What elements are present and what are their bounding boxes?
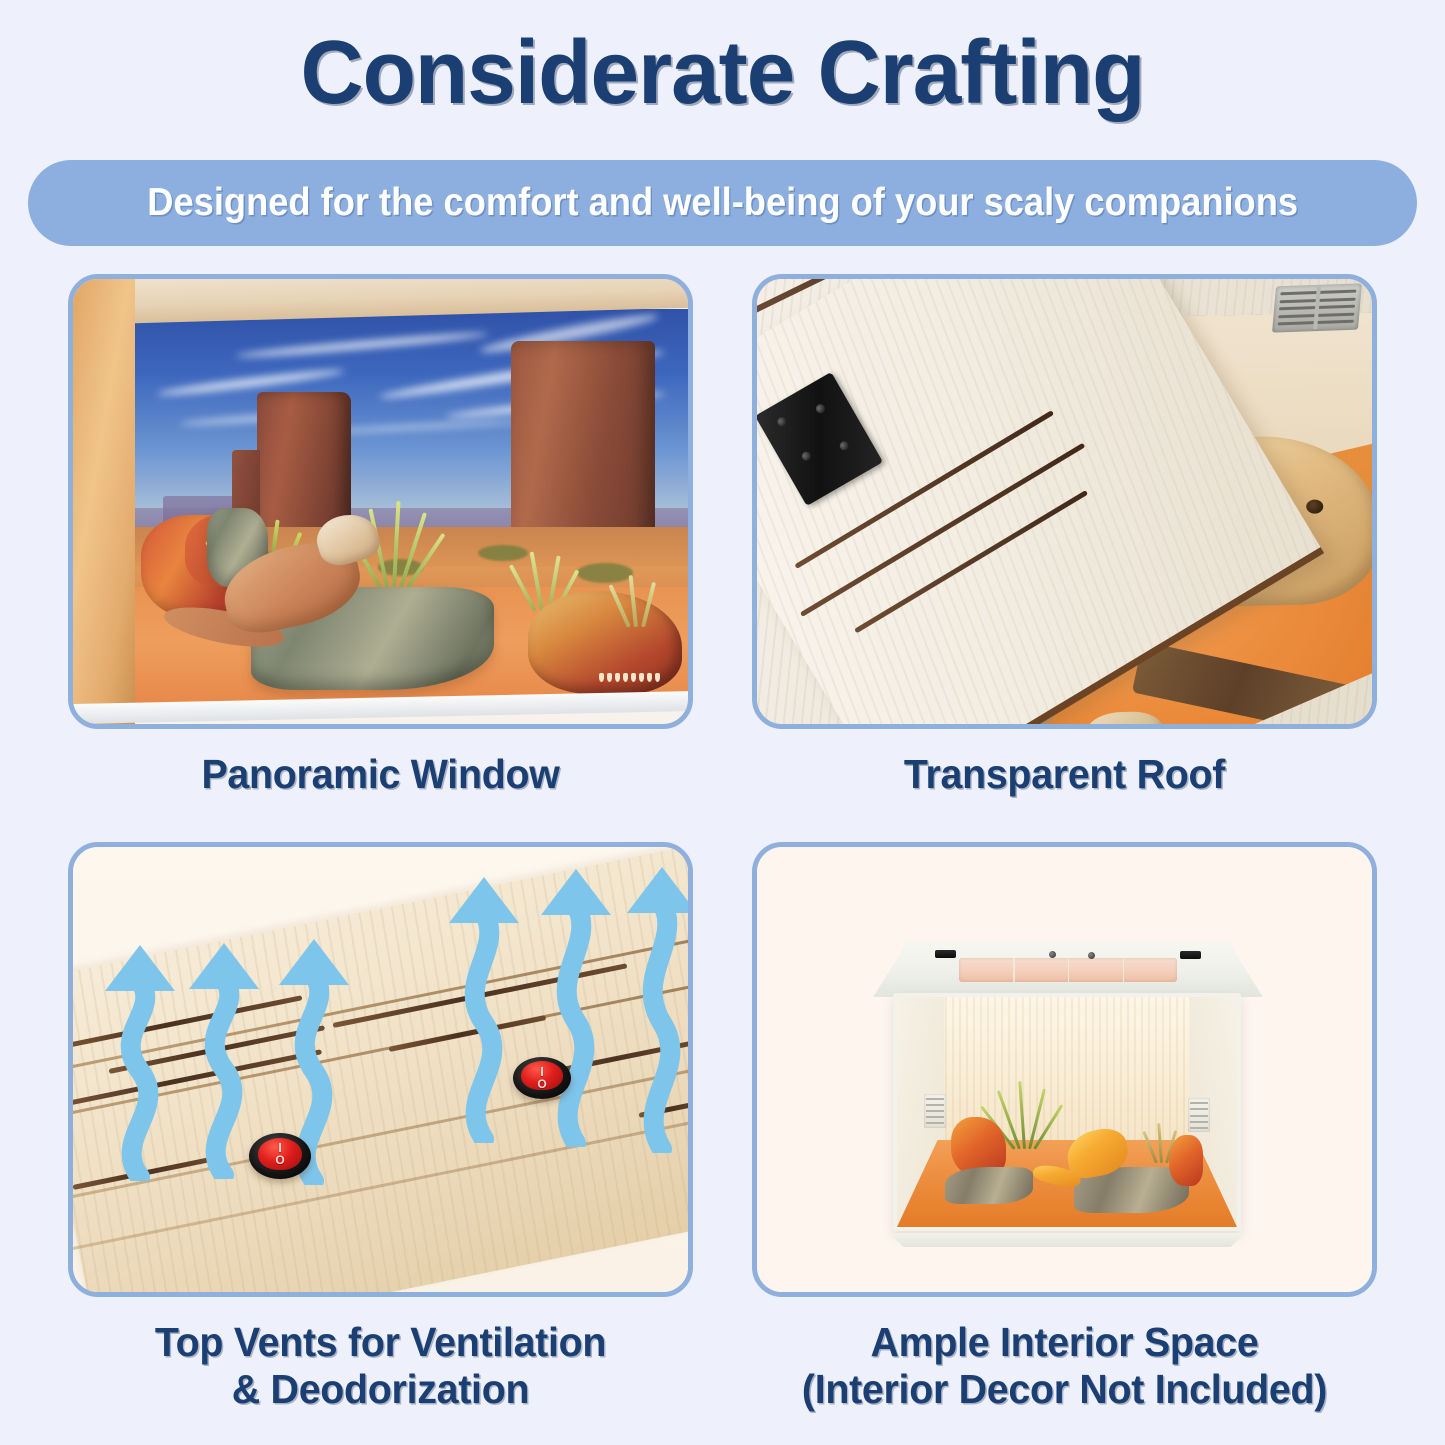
photo-transparent-roof [752, 274, 1377, 729]
photo-ample-interior-space [752, 842, 1377, 1297]
wood-frame-left [73, 279, 135, 724]
photo-panoramic-window [68, 274, 693, 729]
caption-line-1: Top Vents for Ventilation [155, 1319, 606, 1365]
vent-slot [796, 274, 1041, 279]
top-frame [873, 941, 1263, 997]
lid-clip[interactable] [935, 950, 956, 958]
side-vent-grille [924, 1094, 946, 1128]
shrub [478, 545, 528, 561]
airflow-arrow-icon [621, 863, 693, 1153]
mesa-butte-right [511, 341, 655, 555]
side-vent-grille [1188, 1098, 1210, 1132]
lid-clip[interactable] [1180, 951, 1201, 959]
base-rail [889, 1233, 1245, 1247]
orange-rock-decor [1169, 1135, 1203, 1186]
caption-line-2: (Interior Decor Not Included) [765, 1366, 1365, 1413]
caption-panoramic-window: Panoramic Window [81, 751, 681, 798]
screw-icon [1049, 951, 1056, 958]
feature-cell-ample-interior-space: Ample Interior Space (Interior Decor Not… [752, 842, 1377, 1413]
infographic-page: Considerate Crafting Designed for the co… [0, 0, 1445, 1445]
photo-top-vents: O O [68, 842, 693, 1297]
feature-cell-top-vents: O O Top Vents for Ventilation & Deodoriz… [68, 842, 693, 1413]
desert-diorama-scene [135, 309, 688, 706]
skull-teeth [599, 673, 660, 682]
caption-line-1: Panoramic Window [201, 751, 559, 797]
airflow-arrow-icon [535, 865, 617, 1147]
cloud-streak-icon [235, 330, 489, 360]
airflow-arrow-icon [99, 941, 181, 1181]
caption-transparent-roof: Transparent Roof [765, 751, 1365, 798]
airflow-arrow-icon [443, 873, 525, 1143]
subtitle-text: Designed for the comfort and well-being … [147, 181, 1298, 225]
switch-off-label: O [249, 1153, 311, 1167]
power-switch-front[interactable]: O [249, 1133, 311, 1179]
terrarium-product [847, 941, 1281, 1241]
enclosure-body [893, 993, 1241, 1231]
caption-line-1: Ample Interior Space [871, 1319, 1259, 1365]
side-vent-grille [1272, 283, 1362, 332]
caption-line-2: & Deodorization [81, 1366, 681, 1413]
feature-cell-transparent-roof: Transparent Roof [752, 274, 1377, 798]
caption-top-vents: Top Vents for Ventilation & Deodorizatio… [81, 1319, 681, 1413]
driftwood-decor [945, 1167, 1033, 1204]
caption-ample-interior-space: Ample Interior Space (Interior Decor Not… [765, 1319, 1365, 1413]
caption-line-1: Transparent Roof [904, 751, 1225, 797]
feature-cell-panoramic-window: Panoramic Window [68, 274, 693, 798]
power-switch-rear[interactable]: O [513, 1057, 571, 1099]
screw-icon [1088, 952, 1095, 959]
page-title: Considerate Crafting [22, 28, 1424, 118]
subtitle-banner: Designed for the comfort and well-being … [28, 160, 1417, 246]
switch-off-label: O [513, 1077, 571, 1091]
shrub [577, 563, 632, 583]
translucent-roof-panel [959, 958, 1177, 983]
